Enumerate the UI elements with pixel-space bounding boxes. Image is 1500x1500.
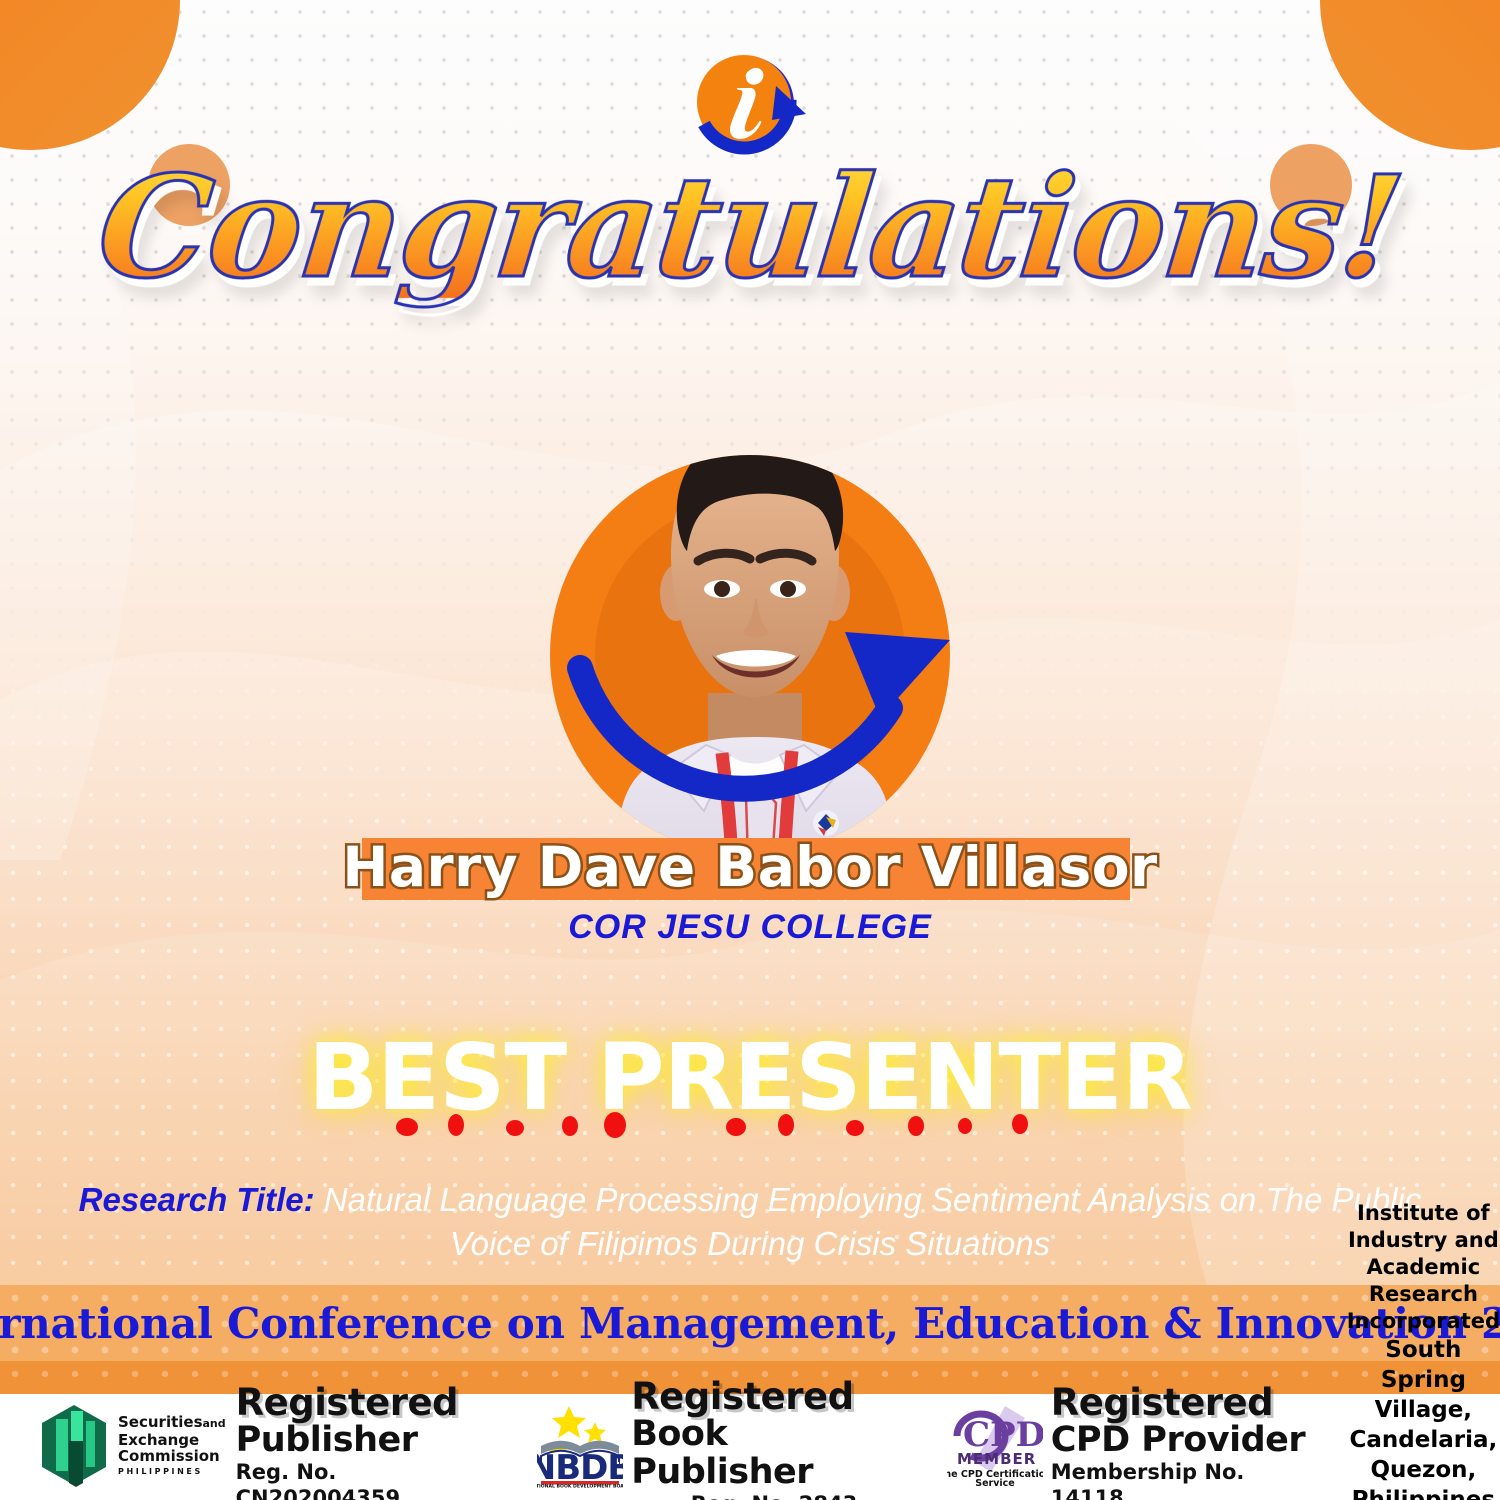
page-title: Congratulations! — [0, 158, 1500, 298]
nbdb-title-line1: Registered — [631, 1378, 917, 1415]
nbdb-reg-no: Reg. No. 2843 — [631, 1491, 917, 1500]
svg-text:Service: Service — [975, 1478, 1015, 1488]
blue-arrow-icon — [520, 400, 980, 850]
research-title: Research Title: Natural Language Process… — [70, 1178, 1430, 1266]
nbdb-title-line2: Book Publisher — [631, 1415, 917, 1491]
sec-accreditation-block: Securitiesand Exchange Commission PHILIP… — [38, 1384, 503, 1500]
awardee-name: Harry Dave Babor Villasor — [0, 828, 1500, 906]
corner-circle-top-right — [1320, 0, 1500, 150]
sec-hexagon-logo — [38, 1403, 110, 1492]
svg-text:MEMBER: MEMBER — [957, 1450, 1036, 1468]
svg-text:NATIONAL BOOK DEVELOPMENT BOAR: NATIONAL BOOK DEVELOPMENT BOARD — [537, 1483, 623, 1488]
organization-name: Institute of Industry and Academic Resea… — [1347, 1200, 1500, 1335]
sec-org-country: PHILIPPINES — [118, 1464, 226, 1480]
sec-org-line2: Exchange — [118, 1432, 226, 1448]
awardee-affiliation: COR JESU COLLEGE — [0, 908, 1500, 947]
sec-org-and: and — [203, 1417, 226, 1430]
sec-title-line1: Registered — [236, 1384, 504, 1421]
svg-text:CPD: CPD — [963, 1415, 1043, 1455]
cpd-accreditation-block: CPD MEMBER The CPD Certification Service… — [947, 1384, 1321, 1500]
conference-name: International Conference on Management, … — [0, 1299, 1500, 1348]
research-title-label: Research Title: — [79, 1181, 315, 1218]
footer: Securitiesand Exchange Commission PHILIP… — [0, 1394, 1500, 1500]
organization-contact-block: Institute of Industry and Academic Resea… — [1347, 1200, 1500, 1500]
nbdb-book-stars-logo: NBDB NATIONAL BOOK DEVELOPMENT BOARD — [537, 1402, 623, 1493]
conference-banner: International Conference on Management, … — [0, 1285, 1500, 1361]
sec-org-line3: Commission — [118, 1448, 226, 1464]
cpd-title-block: Registered CPD Provider Membership No. 1… — [1051, 1384, 1321, 1500]
nbdb-accreditation-block: NBDB NATIONAL BOOK DEVELOPMENT BOARD Reg… — [537, 1378, 917, 1500]
corner-circle-top-left — [0, 0, 180, 150]
sec-title-line2: Publisher — [236, 1421, 504, 1459]
organization-address: South Spring Village, Candelaria, Quezon… — [1347, 1335, 1500, 1500]
research-title-value: Natural Language Processing Employing Se… — [324, 1181, 1422, 1262]
sec-title-block: Registered Publisher Reg. No. CN20200435… — [236, 1384, 504, 1500]
drip-decoration — [0, 1112, 1500, 1152]
cpd-reg-no: Membership No. 14118 — [1051, 1459, 1321, 1500]
sec-reg-no: Reg. No. CN202004359 — [236, 1459, 504, 1500]
sec-org-name: Securitiesand Exchange Commission PHILIP… — [118, 1414, 226, 1480]
congratulations-poster: Congratulations! — [0, 0, 1500, 1500]
awardee-photo — [520, 400, 980, 850]
cpd-title-line1: Registered — [1051, 1384, 1321, 1421]
cpd-member-logo: CPD MEMBER The CPD Certification Service — [947, 1402, 1043, 1493]
sec-org-line1: Securities — [118, 1413, 203, 1431]
nbdb-title-block: Registered Book Publisher Reg. No. 2843 — [631, 1378, 917, 1500]
cpd-title-line2: CPD Provider — [1051, 1421, 1321, 1459]
